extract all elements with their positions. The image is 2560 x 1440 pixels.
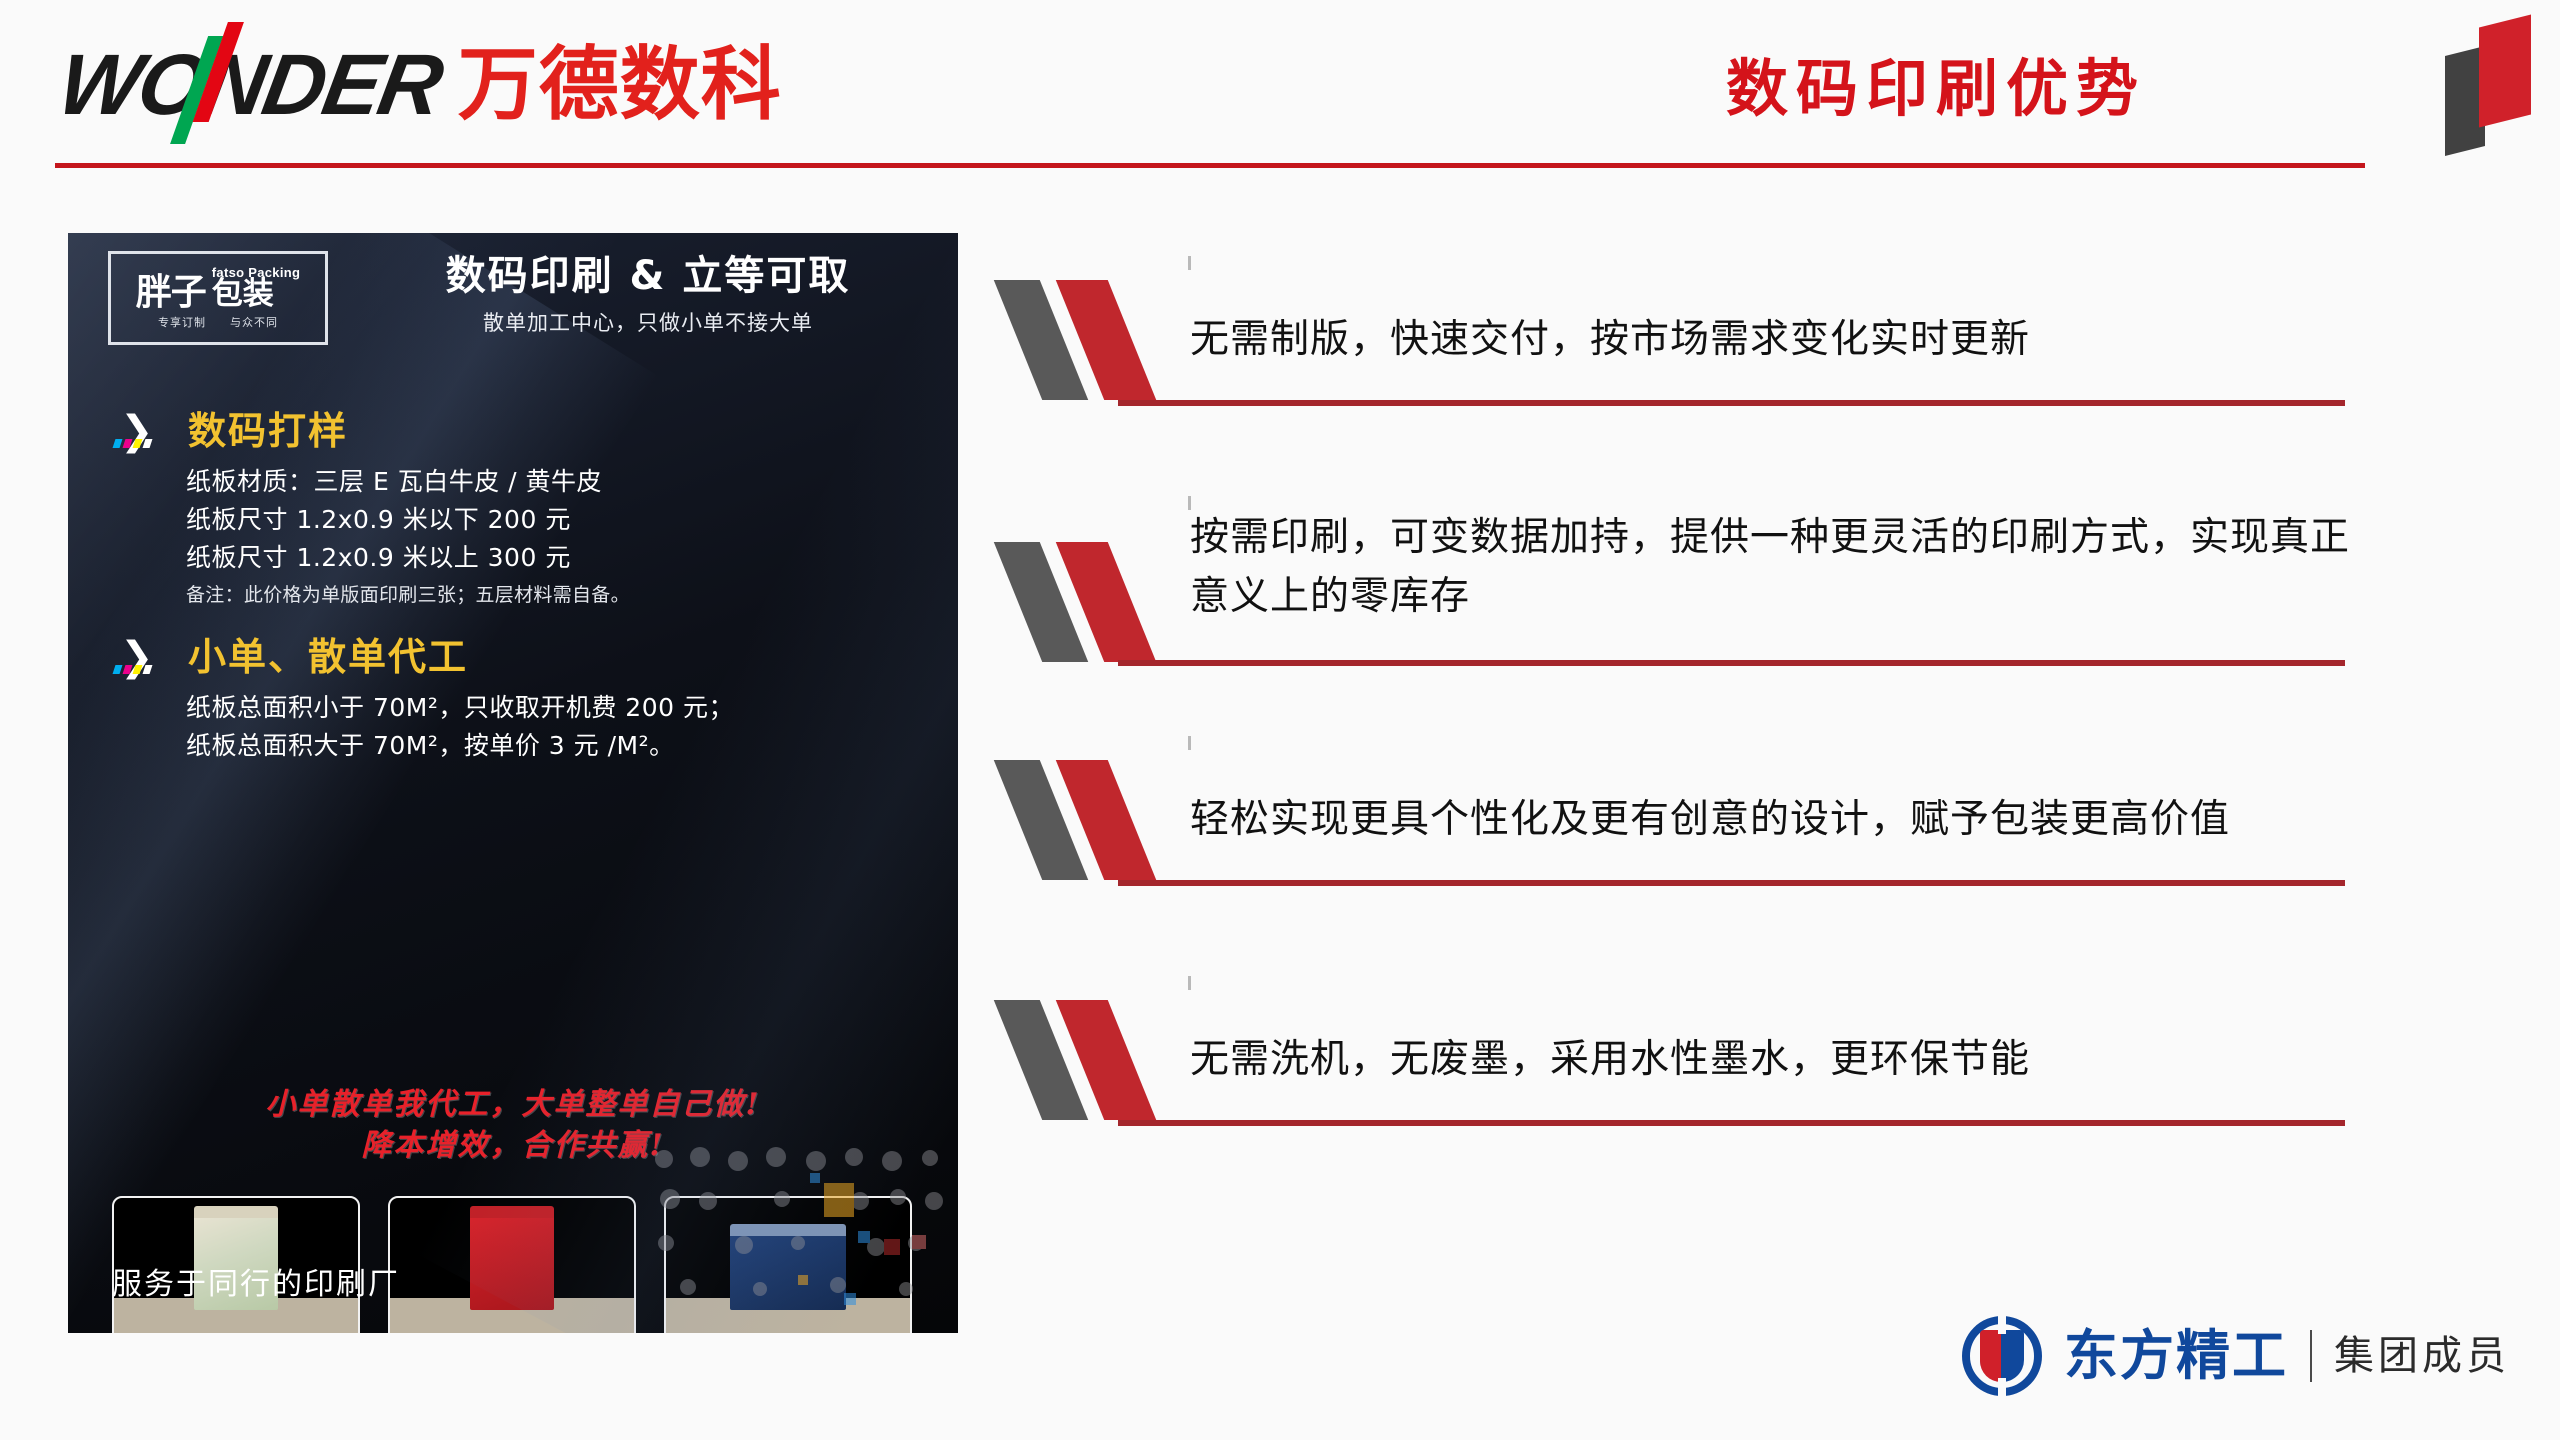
advantage-text: 按需印刷，可变数据加持，提供一种更灵活的印刷方式，实现真正意义上的零库存 [1190,508,2370,627]
shield-slot-bottom [1998,1378,2006,1400]
section-line: 纸板材质：三层 E 瓦白牛皮 / 黄牛皮 [186,463,630,501]
advantage-text: 无需制版，快速交付，按市场需求变化实时更新 [1190,310,2370,369]
advantage-item-4: 无需洗机，无废墨，采用水性墨水，更环保节能 [1010,988,2370,1228]
bullet-chevron-icon [1010,542,1175,662]
slogan-line-1: 小单散单我代工，大单整单自己做! [68,1085,958,1126]
corner-decoration-icon [2443,9,2553,159]
section-line: 纸板尺寸 1.2x0.9 米以下 200 元 [186,501,630,539]
wonder-logo: WONDER 万德数科 [60,42,782,128]
bullet-tick-mark [1188,976,1191,990]
bullet-underline [1118,400,2345,406]
bullet-chevron-icon [1010,760,1175,880]
header-divider [55,163,2365,168]
chevron-arrow-icon: ❯ [114,635,176,679]
bullet-tick-mark [1188,736,1191,750]
section-title: 小单、散单代工 [188,638,468,676]
fatso-logo-right: fatso Packing 包装 [212,266,300,310]
bullet-underline [1118,1120,2345,1126]
section-title: 数码打样 [188,412,348,450]
shield-slot-top [1998,1312,2006,1334]
slide-header: WONDER 万德数科 数码印刷优势 [0,0,2560,180]
section-heading: ❯ 小单、散单代工 [114,635,734,679]
bullet-chevron-icon [1010,280,1175,400]
fatso-logo-cn-right: 包装 [212,279,274,310]
halftone-dot-pattern [648,1143,948,1323]
fatso-tagline-left: 专享订制 [158,314,206,330]
poster-footer-text: 服务于同行的印刷厂 [112,1259,400,1303]
shield-body [1980,1330,2024,1382]
photo-box-shape [470,1214,554,1310]
product-photo-red-gift-box [388,1196,636,1333]
section-heading: ❯ 数码打样 [114,409,630,453]
poster-headline: 数码印刷 & 立等可取 [368,253,928,299]
poster-section-small-orders: ❯ 小单、散单代工 纸板总面积小于 70M²，只收取开机费 200 元； 纸板总… [114,635,734,765]
footer-member-label: 集团成员 [2334,1336,2510,1376]
section-line: 纸板总面积大于 70M²，按单价 3 元 /M²。 [186,727,734,765]
wordmark-part-2: DER [256,37,449,133]
cmyk-dots-icon [113,665,153,674]
fatso-logo-cn-left: 胖子 [136,276,206,310]
fatso-packing-logo: 胖子 fatso Packing 包装 专享订制 与众不同 [108,251,328,345]
section-line: 纸板尺寸 1.2x0.9 米以上 300 元 [186,539,630,577]
section-line: 纸板总面积小于 70M²，只收取开机费 200 元； [186,689,734,727]
page-title: 数码印刷优势 [1726,38,2146,128]
slide-canvas: WONDER 万德数科 数码印刷优势 胖子 fatso Packing 包装 [0,0,2560,1440]
poster-subheadline: 散单加工中心，只做小单不接大单 [368,307,928,337]
section-note: 备注：此价格为单版面印刷三张；五层材料需自备。 [186,581,630,610]
wonder-logo-chinese: 万德数科 [458,45,782,125]
advantage-text: 轻松实现更具个性化及更有创意的设计，赋予包装更高价值 [1190,790,2370,849]
advantage-item-2: 按需印刷，可变数据加持，提供一种更灵活的印刷方式，实现真正意义上的零库存 [1010,508,2370,748]
bullet-chevron-icon [1010,1000,1175,1120]
footer-company-name: 东方精工 [2064,1329,2288,1383]
fatso-tagline-right: 与众不同 [230,314,278,330]
dongfang-shield-icon [1962,1316,2042,1396]
poster-image: 胖子 fatso Packing 包装 专享订制 与众不同 数码印刷 & 立等可… [68,233,958,1333]
poster-section-proofing: ❯ 数码打样 纸板材质：三层 E 瓦白牛皮 / 黄牛皮 纸板尺寸 1.2x0.9… [114,409,630,610]
wonder-logo-wordmark: WONDER [52,42,447,128]
fatso-taglines: 专享订制 与众不同 [158,314,278,330]
footer-divider [2310,1330,2312,1382]
group-member-logo: 东方精工 集团成员 [1962,1316,2510,1396]
chevron-arrow-icon: ❯ [114,409,176,453]
poster-top-band: 胖子 fatso Packing 包装 专享订制 与众不同 数码印刷 & 立等可… [68,233,958,363]
section-lines: 纸板材质：三层 E 瓦白牛皮 / 黄牛皮 纸板尺寸 1.2x0.9 米以下 20… [186,463,630,610]
advantage-text: 无需洗机，无废墨，采用水性墨水，更环保节能 [1190,1030,2370,1089]
bullet-underline [1118,660,2345,666]
bullet-underline [1118,880,2345,886]
advantage-item-3: 轻松实现更具个性化及更有创意的设计，赋予包装更高价值 [1010,748,2370,988]
advantages-list: 无需制版，快速交付，按市场需求变化实时更新 按需印刷，可变数据加持，提供一种更灵… [1010,268,2370,1228]
bullet-tick-mark [1188,256,1191,270]
poster-headline-block: 数码印刷 & 立等可取 散单加工中心，只做小单不接大单 [368,253,928,337]
section-lines: 纸板总面积小于 70M²，只收取开机费 200 元； 纸板总面积大于 70M²，… [186,689,734,765]
fatso-logo-row: 胖子 fatso Packing 包装 [136,266,300,310]
cmyk-dots-icon [113,439,153,448]
advantage-item-1: 无需制版，快速交付，按市场需求变化实时更新 [1010,268,2370,508]
corner-shape-front [2479,15,2531,128]
